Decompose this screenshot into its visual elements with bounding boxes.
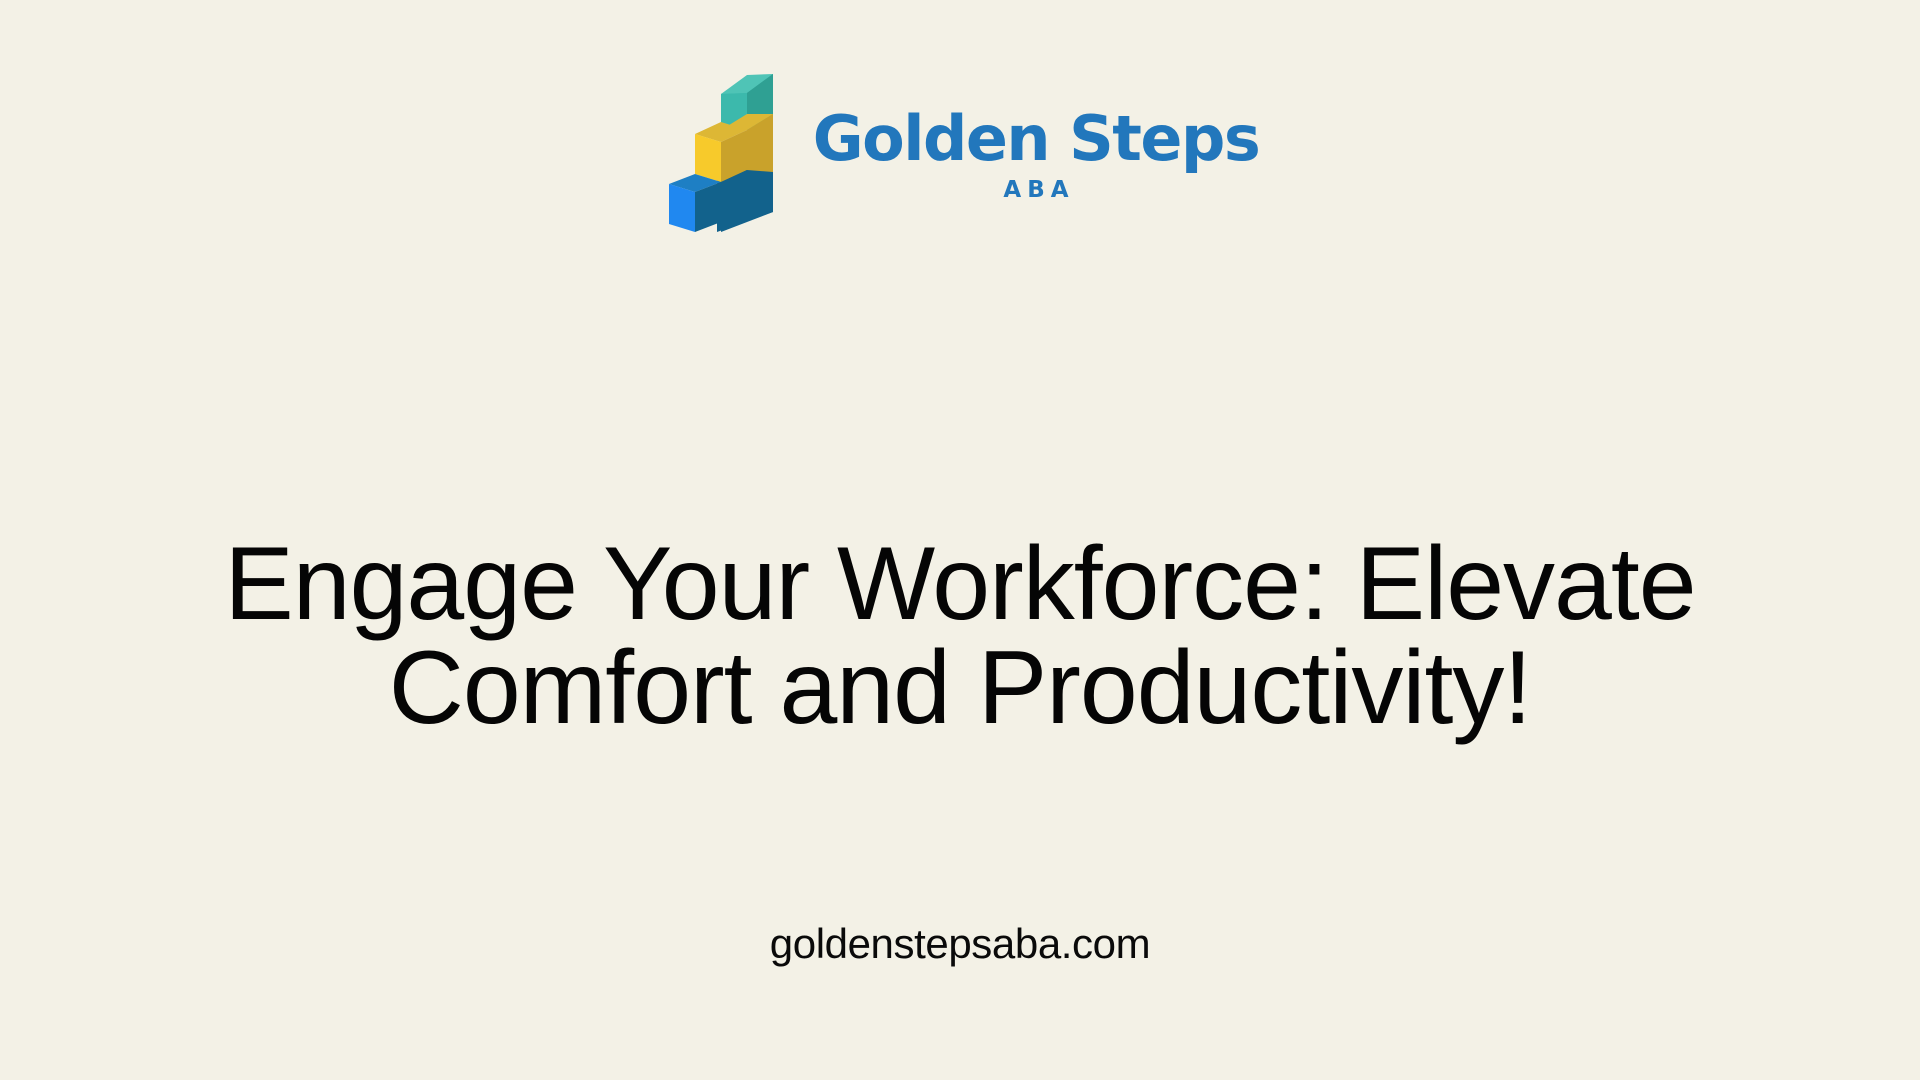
golden-steps-stacked-cubes-icon bbox=[661, 72, 791, 232]
headline-line-2: Comfort and Productivity! bbox=[150, 636, 1770, 740]
logo-brand-subtitle: ABA bbox=[1003, 177, 1074, 203]
logo-wordmark: Golden Steps ABA bbox=[813, 107, 1260, 202]
website-url[interactable]: goldenstepsaba.com bbox=[0, 920, 1920, 968]
social-share-card: Golden Steps ABA Engage Your Workforce: … bbox=[0, 0, 1920, 1080]
page-title: Engage Your Workforce: Elevate Comfort a… bbox=[0, 532, 1920, 740]
logo-lockup: Golden Steps ABA bbox=[661, 72, 1260, 232]
headline-line-1: Engage Your Workforce: Elevate bbox=[150, 532, 1770, 636]
brand-logo: Golden Steps ABA bbox=[0, 72, 1920, 232]
logo-brand-name: Golden Steps bbox=[813, 107, 1260, 170]
